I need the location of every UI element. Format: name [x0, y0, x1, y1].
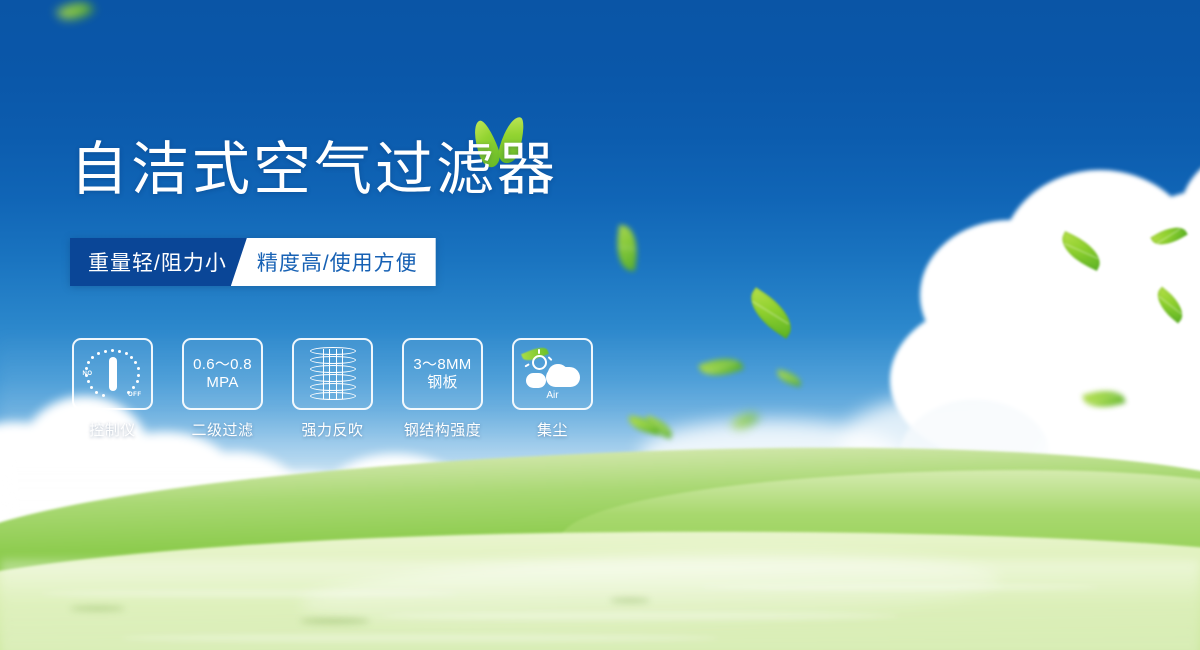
page-title: 自洁式空气过滤器 [70, 140, 558, 198]
filter-cartridge-icon [310, 347, 356, 401]
feature-item-dust[interactable]: Air 集尘 [512, 338, 593, 440]
pressure-value-line2: MPA [206, 374, 238, 392]
subtitle-bar: 重量轻/阻力小 精度高/使用方便 [70, 238, 436, 286]
banner-canvas: 自洁式空气过滤器 重量轻/阻力小 精度高/使用方便 NO OFF [0, 0, 1200, 650]
feature-label: 二级过滤 [191, 419, 253, 440]
subtitle-left-segment: 重量轻/阻力小 [70, 238, 247, 286]
cloud-air-icon: Air [524, 352, 582, 396]
feature-icon-box: 0.6～0.8 MPA [182, 338, 263, 410]
feature-icon-box [292, 338, 373, 410]
sun-icon [532, 355, 547, 370]
steel-value-line2: 钢板 [427, 374, 458, 392]
gauge-label-off: OFF [128, 392, 142, 398]
feature-item-pressure[interactable]: 0.6～0.8 MPA 二级过滤 [182, 338, 263, 440]
subtitle-right-segment: 精度高/使用方便 [231, 238, 436, 286]
feature-item-blowback[interactable]: 强力反吹 [292, 338, 373, 440]
feature-label: 钢结构强度 [404, 419, 482, 440]
feature-list: NO OFF [72, 338, 593, 440]
steel-value-line1: 3～8MM [413, 356, 471, 374]
feature-label: 强力反吹 [301, 419, 363, 440]
gauge-dial-icon: NO OFF [85, 348, 141, 400]
gauge-needle [109, 357, 117, 391]
cloud-body-icon [546, 367, 580, 387]
feature-icon-box: 3～8MM 钢板 [402, 338, 483, 410]
feature-icon-box: NO OFF [72, 338, 153, 410]
feature-label: 集尘 [537, 419, 568, 440]
feature-label: 控制仪 [89, 419, 136, 440]
feature-item-control[interactable]: NO OFF [72, 338, 153, 440]
air-label: Air [524, 390, 582, 401]
cloud-small-icon [526, 373, 546, 388]
pressure-value-line1: 0.6～0.8 [193, 356, 252, 374]
feature-item-steel[interactable]: 3～8MM 钢板 钢结构强度 [402, 338, 483, 440]
feature-icon-box: Air [512, 338, 593, 410]
grass-field [0, 0, 1200, 650]
